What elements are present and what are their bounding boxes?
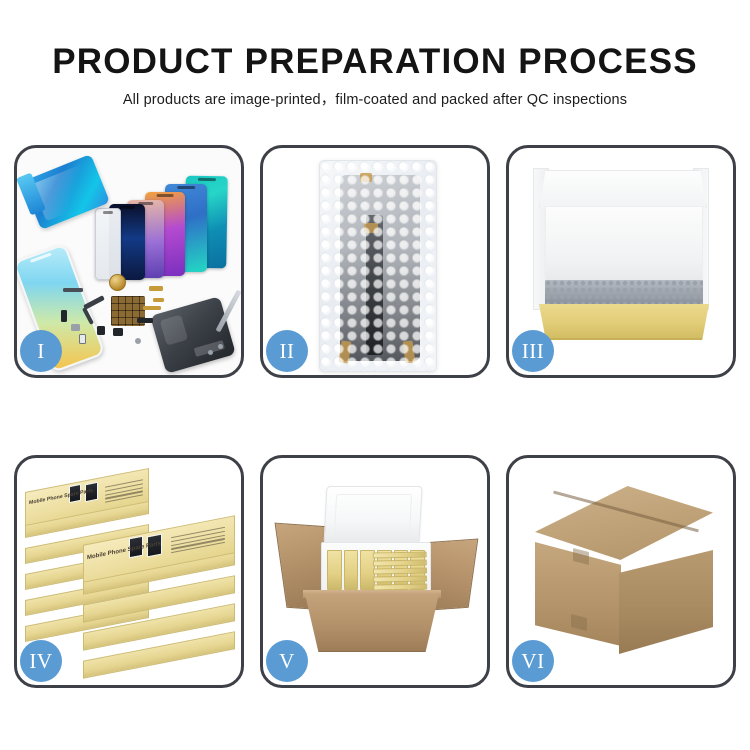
box-front-panel-icon bbox=[539, 304, 709, 340]
step-panel-5: V bbox=[260, 455, 490, 688]
retail-box-item bbox=[373, 560, 427, 567]
spare-part-icon bbox=[71, 324, 80, 331]
step-1-illustration: I bbox=[17, 148, 241, 375]
retail-box-item bbox=[373, 552, 427, 559]
notch-icon bbox=[119, 206, 134, 209]
spare-part-icon bbox=[113, 328, 123, 336]
step-6-illustration: VI bbox=[509, 458, 733, 685]
screw-icon bbox=[208, 350, 213, 355]
camera-lens-icon bbox=[109, 274, 126, 291]
step-panel-4: Mobile Phone Spare Parts Mobile Phone Sp… bbox=[14, 455, 244, 688]
step-panel-3: III bbox=[506, 145, 736, 378]
carton-top-face-icon bbox=[535, 486, 713, 560]
step-3-illustration: III bbox=[509, 148, 733, 375]
spare-part-icon bbox=[79, 334, 86, 344]
step-badge-6: VI bbox=[512, 640, 554, 682]
spare-part-icon bbox=[149, 286, 163, 291]
notch-icon bbox=[30, 253, 52, 263]
step-panel-6: VI bbox=[506, 455, 736, 688]
step-badge-5: V bbox=[266, 640, 308, 682]
step-panel-1: I bbox=[14, 145, 244, 378]
spare-part-icon bbox=[61, 310, 67, 322]
spare-part-icon bbox=[63, 288, 83, 292]
step-badge-4: IV bbox=[20, 640, 62, 682]
spare-part-icon bbox=[153, 298, 164, 302]
phone-back-housing-icon bbox=[150, 296, 236, 374]
spare-part-icon bbox=[137, 318, 153, 323]
foam-pad-icon bbox=[545, 280, 703, 306]
bubble-wrap-bag-icon bbox=[319, 160, 437, 372]
retail-box-item bbox=[344, 550, 359, 590]
page-title: PRODUCT PREPARATION PROCESS bbox=[0, 42, 750, 82]
retail-box-item bbox=[373, 576, 427, 583]
notch-icon bbox=[177, 186, 195, 189]
spare-part-icon bbox=[143, 306, 161, 310]
box-lid-icon bbox=[539, 170, 707, 208]
retail-box-item bbox=[373, 568, 427, 575]
screw-icon bbox=[218, 344, 223, 349]
step-badge-2: II bbox=[266, 330, 308, 372]
notch-icon bbox=[103, 211, 113, 214]
page-subtitle: All products are image-printed，film-coat… bbox=[0, 91, 750, 109]
screen-glass-icon bbox=[95, 208, 121, 280]
page-header: PRODUCT PREPARATION PROCESS All products… bbox=[0, 0, 750, 109]
carton-body-icon bbox=[305, 594, 439, 652]
step-4-illustration: Mobile Phone Spare Parts Mobile Phone Sp… bbox=[17, 458, 241, 685]
flex-cable-icon bbox=[83, 295, 105, 310]
product-preparation-process-page: PRODUCT PREPARATION PROCESS All products… bbox=[0, 0, 750, 750]
step-5-illustration: V bbox=[263, 458, 487, 685]
bubble-texture-overlay bbox=[320, 161, 436, 371]
carton-right-face-icon bbox=[619, 550, 713, 654]
step-panel-2: II bbox=[260, 145, 490, 378]
step-badge-3: III bbox=[512, 330, 554, 372]
step-2-illustration: II bbox=[263, 148, 487, 375]
foam-insert-icon bbox=[545, 206, 703, 284]
spare-part-icon bbox=[97, 326, 105, 335]
retail-box-item bbox=[327, 550, 342, 590]
process-step-grid: I II bbox=[14, 145, 736, 688]
retail-boxes-row-horizontal bbox=[373, 552, 428, 591]
foam-lid-icon bbox=[323, 486, 422, 544]
spare-part-icon bbox=[135, 338, 141, 344]
notch-icon bbox=[198, 178, 216, 181]
step-badge-1: I bbox=[20, 330, 62, 372]
notch-icon bbox=[157, 194, 174, 197]
